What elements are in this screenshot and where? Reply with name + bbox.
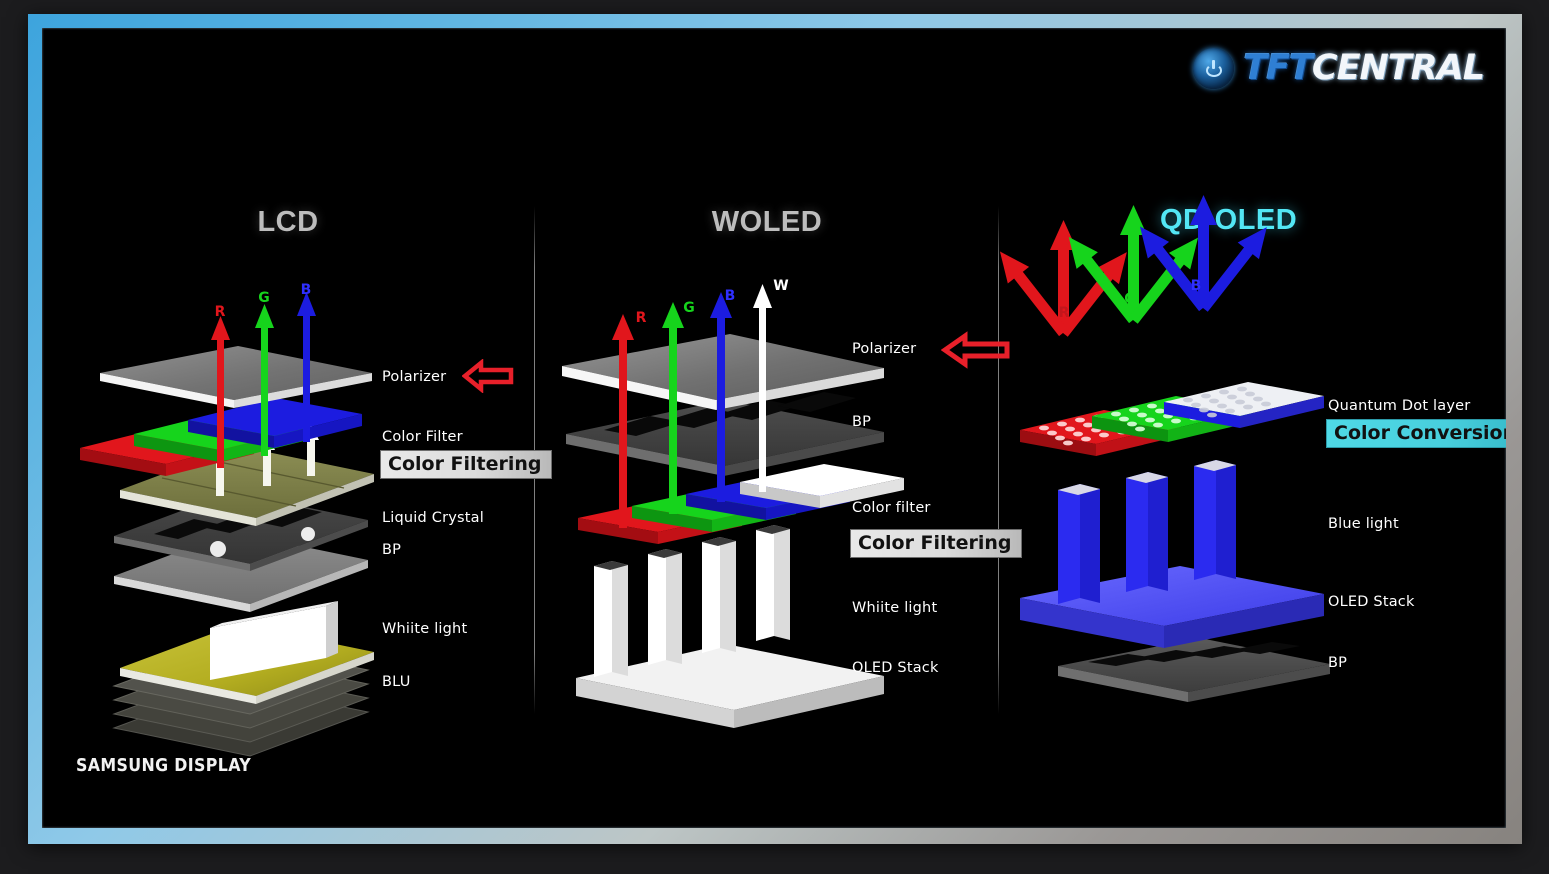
samsung-display-watermark: SAMSUNG DISPLAY [76,755,251,776]
woled-label-bp: BP [852,414,871,430]
svg-text:G: G [1124,291,1136,307]
svg-text:R: R [215,304,226,320]
svg-text:W: W [773,278,788,294]
svg-text:R: R [1059,305,1070,321]
lcd-label-polarizer: Polarizer [382,369,446,385]
woled-label-color-filter: Color filter [852,500,931,516]
left-arrow-icon [941,331,993,365]
lcd-label-liquid-crystal: Liquid Crystal [382,510,484,526]
qdoled-label-quantum-dot-layer: Quantum Dot layer [1328,398,1470,414]
woled-diagram: R G B W [536,28,998,828]
section-qdoled: QD-OLED [1000,28,1506,828]
svg-text:G: G [258,290,270,306]
woled-label-oled-stack: OLED Stack [852,660,939,676]
lcd-label-bp: BP [382,542,401,558]
lcd-label-white-light: Whiite light [382,621,467,637]
qdoled-badge-color-conversion: Color Conversion [1326,419,1506,448]
lcd-label-color-filter: Color Filter [382,429,463,445]
svg-text:G: G [683,300,695,316]
woled-badge-color-filtering: Color Filtering [850,529,1022,558]
lcd-label-blu: BLU [382,674,411,690]
section-lcd: LCD [42,28,534,828]
lcd-diagram: R G B [42,28,534,828]
svg-text:R: R [636,310,647,326]
left-arrow-icon [462,359,514,393]
woled-label-polarizer: Polarizer [852,341,916,357]
monitor-bezel: TFTCENTRAL LCD [28,14,1522,844]
qdoled-label-blue-light: Blue light [1328,516,1399,532]
qdoled-label-oled-stack: OLED Stack [1328,594,1415,610]
column-divider-2 [998,206,999,714]
svg-text:B: B [301,282,312,298]
svg-text:B: B [725,288,736,304]
qdoled-label-bp: BP [1328,655,1347,671]
svg-text:B: B [1191,278,1202,294]
woled-label-white-light: Whiite light [852,600,937,616]
screen-canvas: TFTCENTRAL LCD [42,28,1506,828]
lcd-badge-color-filtering: Color Filtering [380,450,552,479]
section-woled: WOLED [536,28,998,828]
